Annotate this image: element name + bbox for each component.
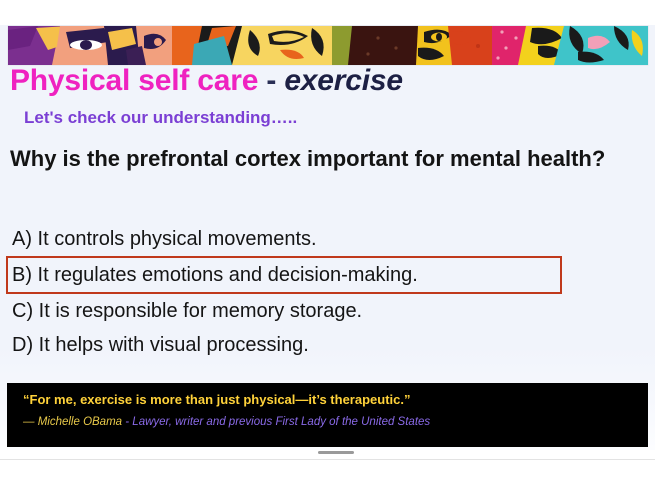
answer-options-list: A) It controls physical movements. B) It…	[10, 222, 640, 362]
option-d[interactable]: D) It helps with visual processing.	[10, 328, 640, 362]
option-c[interactable]: C) It is responsible for memory storage.	[10, 294, 640, 328]
slide-container: Physical self care - exercise Let's chec…	[0, 0, 655, 491]
bottom-divider	[0, 459, 655, 460]
page-title-main: Physical self care	[10, 64, 258, 97]
banner-panel-2	[172, 26, 332, 65]
option-a[interactable]: A) It controls physical movements.	[10, 222, 640, 256]
option-b[interactable]: B) It regulates emotions and decision-ma…	[6, 256, 562, 294]
pop-art-faces-banner	[8, 26, 648, 65]
banner-panel-1	[8, 26, 172, 65]
question-text: Why is the prefrontal cortex important f…	[10, 143, 630, 174]
quote-separator: -	[122, 416, 132, 428]
page-title-emphasis: exercise	[284, 64, 403, 97]
bottom-margin	[0, 450, 655, 491]
banner-panel-4	[492, 26, 648, 65]
quote-text: “For me, exercise is more than just phys…	[23, 391, 648, 409]
banner-panel-3	[332, 26, 492, 65]
page-subtitle: Let's check our understanding…..	[24, 108, 297, 128]
quote-author: — Michelle OBama	[23, 416, 122, 428]
quote-banner: “For me, exercise is more than just phys…	[7, 383, 648, 447]
progress-bar[interactable]	[318, 451, 354, 454]
quote-author-role: Lawyer, writer and previous First Lady o…	[132, 416, 430, 428]
quote-attribution: — Michelle OBama - Lawyer, writer and pr…	[23, 416, 648, 428]
page-title: Physical self care - exercise	[10, 66, 403, 96]
top-margin	[0, 0, 655, 25]
page-title-dash: -	[258, 64, 284, 97]
